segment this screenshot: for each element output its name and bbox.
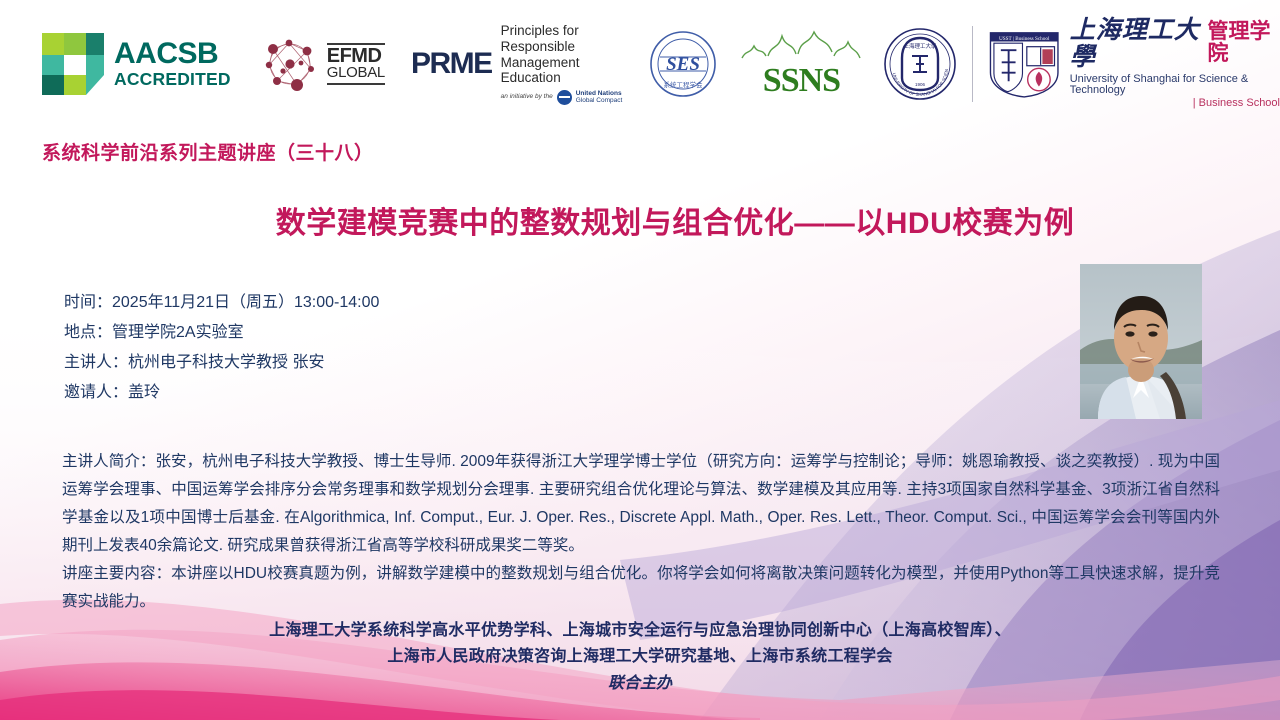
aacsb-line1: AACSB bbox=[114, 39, 231, 69]
aacsb-logo: AACSB ACCREDITED bbox=[42, 33, 231, 95]
un-line2: Global Compact bbox=[576, 97, 623, 104]
lecture-content: 讲座主要内容：本讲座以HDU校赛真题为例，讲解数学建模中的整数规划与组合优化。你… bbox=[62, 560, 1220, 616]
ses-seal-icon: SES 系统工程学会 bbox=[648, 29, 718, 99]
organizer-line-1: 上海理工大学系统科学高水平优势学科、上海城市安全运行与应急治理协同创新中心（上海… bbox=[0, 618, 1280, 644]
prme-line1: Principles for Responsible bbox=[501, 23, 625, 54]
aacsb-line2: ACCREDITED bbox=[114, 71, 231, 89]
usst-business-shield-icon: USST | Business School bbox=[987, 22, 1061, 106]
organizer-line-2: 上海市人民政府决策咨询上海理工大学研究基地、上海市系统工程学会 bbox=[0, 644, 1280, 670]
usst-business-school-logo: USST | Business School 上海理工大學 管理学院 Unive… bbox=[987, 18, 1280, 109]
ssns-logo: SSNS bbox=[736, 28, 866, 100]
efmd-line2: GLOBAL bbox=[327, 66, 385, 80]
usst-chinese-university-name: 上海理工大學 bbox=[1070, 18, 1205, 71]
united-nations-globe-icon bbox=[557, 90, 572, 105]
prme-wordmark: PRME bbox=[411, 47, 492, 81]
info-host: 邀请人：盖玲 bbox=[64, 378, 379, 408]
ssns-wordmark: SSNS bbox=[763, 62, 840, 100]
organizers-footer: 上海理工大学系统科学高水平优势学科、上海城市安全运行与应急治理协同创新中心（上海… bbox=[0, 618, 1280, 698]
series-label: 系统科学前沿系列主题讲座（三十八） bbox=[42, 138, 374, 165]
info-time: 时间：2025年11月21日（周五）13:00-14:00 bbox=[64, 288, 379, 318]
usst-english-university-name: University of Shanghai for Science & Tec… bbox=[1070, 74, 1280, 97]
prme-line2: Management Education bbox=[501, 55, 625, 86]
usst-chinese-school-name: 管理学院 bbox=[1207, 21, 1280, 65]
svg-text:上海理工大學: 上海理工大學 bbox=[904, 42, 938, 50]
event-info-block: 时间：2025年11月21日（周五）13:00-14:00 地点：管理学院2A实… bbox=[64, 288, 379, 408]
logo-divider bbox=[972, 26, 973, 102]
speaker-portrait-image bbox=[1080, 264, 1202, 419]
prme-initiative-text: an initiative by the bbox=[501, 93, 553, 100]
ssns-crown-icon bbox=[736, 28, 866, 62]
accreditation-logo-bar: AACSB ACCREDITED bbox=[0, 0, 1280, 128]
usst-english-school-name: | Business School bbox=[1070, 98, 1280, 110]
seminar-poster: AACSB ACCREDITED bbox=[0, 0, 1280, 720]
usst-seal-icon: 上海理工大學 1906 UNIVERSITY OF SHANGHAI FOR S… bbox=[882, 26, 958, 102]
speaker-portrait bbox=[1080, 264, 1202, 419]
svg-text:SES: SES bbox=[667, 54, 701, 75]
un-line1: United Nations bbox=[576, 90, 623, 97]
usst-badge-text: USST | Business School bbox=[999, 36, 1050, 42]
efmd-logo: EFMD GLOBAL bbox=[259, 33, 385, 95]
info-speaker: 主讲人：杭州电子科技大学教授 张安 bbox=[64, 348, 379, 378]
prme-logo: PRME Principles for Responsible Manageme… bbox=[411, 23, 624, 104]
aacsb-mark-icon bbox=[42, 33, 104, 95]
main-title: 数学建模竞赛中的整数规划与组合优化——以HDU校赛为例 bbox=[0, 198, 1280, 242]
svg-text:系统工程学会: 系统工程学会 bbox=[664, 80, 704, 89]
info-location: 地点：管理学院2A实验室 bbox=[64, 318, 379, 348]
organizer-line-3: 联合主办 bbox=[0, 670, 1280, 698]
efmd-network-icon bbox=[259, 33, 321, 95]
ses-seal-logo: SES 系统工程学会 bbox=[648, 29, 718, 99]
speaker-bio: 主讲人简介：张安，杭州电子科技大学教授、博士生导师. 2009年获得浙江大学理学… bbox=[62, 448, 1220, 560]
usst-seal-logo: 上海理工大學 1906 UNIVERSITY OF SHANGHAI FOR S… bbox=[882, 26, 958, 102]
svg-text:1906: 1906 bbox=[915, 82, 926, 87]
